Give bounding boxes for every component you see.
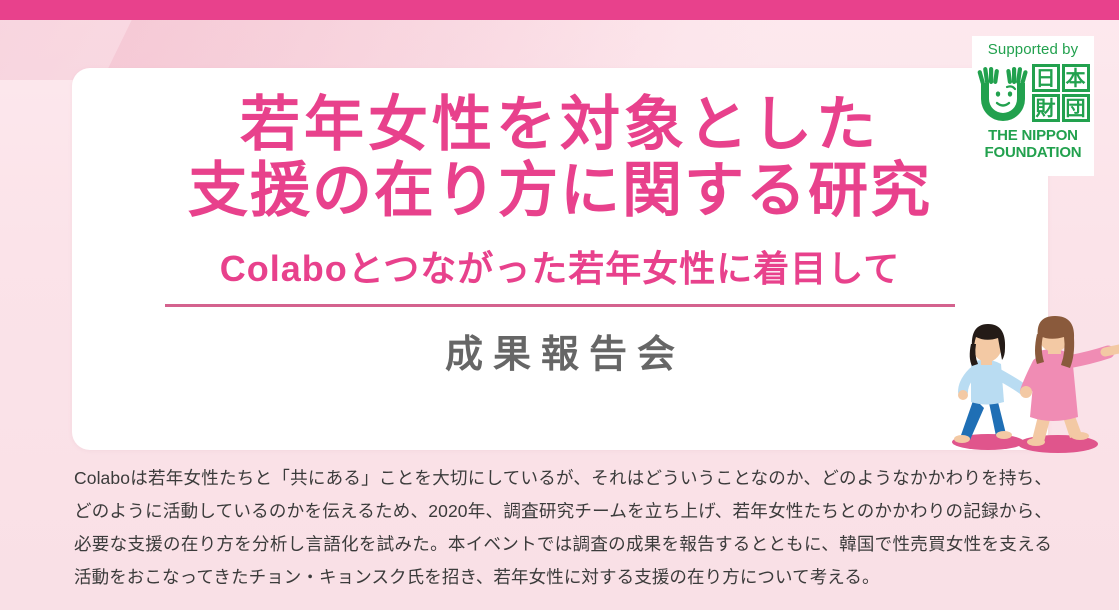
logo-kanji-4: 団 bbox=[1062, 94, 1090, 122]
logo-kanji-1: 日 bbox=[1032, 64, 1060, 92]
figure-child bbox=[954, 324, 1032, 443]
figure-woman bbox=[1020, 316, 1119, 446]
page-title-line2: 支援の在り方に関する研究 bbox=[72, 158, 1048, 224]
page-subtitle: Colaboとつながった若年女性に着目して bbox=[72, 240, 1048, 292]
logo-mark: 日 本 財 団 bbox=[977, 61, 1090, 125]
description-paragraph: Colaboは若年女性たちと「共にある」ことを大切にしているが、それはどういうこ… bbox=[74, 462, 1052, 594]
top-accent-bar bbox=[0, 0, 1119, 20]
title-divider-rule bbox=[165, 304, 955, 307]
logo-name-line1: THE NIPPON bbox=[985, 128, 1082, 145]
poster-canvas: Supported by bbox=[0, 0, 1119, 610]
logo-name: THE NIPPON FOUNDATION bbox=[985, 128, 1082, 162]
nippon-foundation-logo: Supported by bbox=[972, 36, 1094, 176]
logo-supported-by-label: Supported by bbox=[988, 42, 1078, 57]
two-women-walking-illustration bbox=[940, 316, 1119, 456]
title-block: 若年女性を対象とした 支援の在り方に関する研究 Colaboとつながった若年女性… bbox=[72, 92, 1048, 378]
logo-kanji-3: 財 bbox=[1032, 94, 1060, 122]
event-title: 成果報告会 bbox=[72, 323, 1048, 378]
logo-name-line2: FOUNDATION bbox=[985, 145, 1082, 162]
description-text: Colaboは若年女性たちと「共にある」ことを大切にしているが、それはどういうこ… bbox=[74, 462, 1052, 594]
page-title-line1: 若年女性を対象とした bbox=[72, 92, 1048, 158]
background-diagonal-accent-secondary bbox=[108, 20, 691, 68]
smiling-face-with-hands-icon bbox=[977, 63, 1029, 123]
logo-kanji-2: 本 bbox=[1062, 64, 1090, 92]
page-title: 若年女性を対象とした 支援の在り方に関する研究 bbox=[72, 92, 1048, 224]
logo-kanji-block: 日 本 財 団 bbox=[1032, 64, 1090, 122]
